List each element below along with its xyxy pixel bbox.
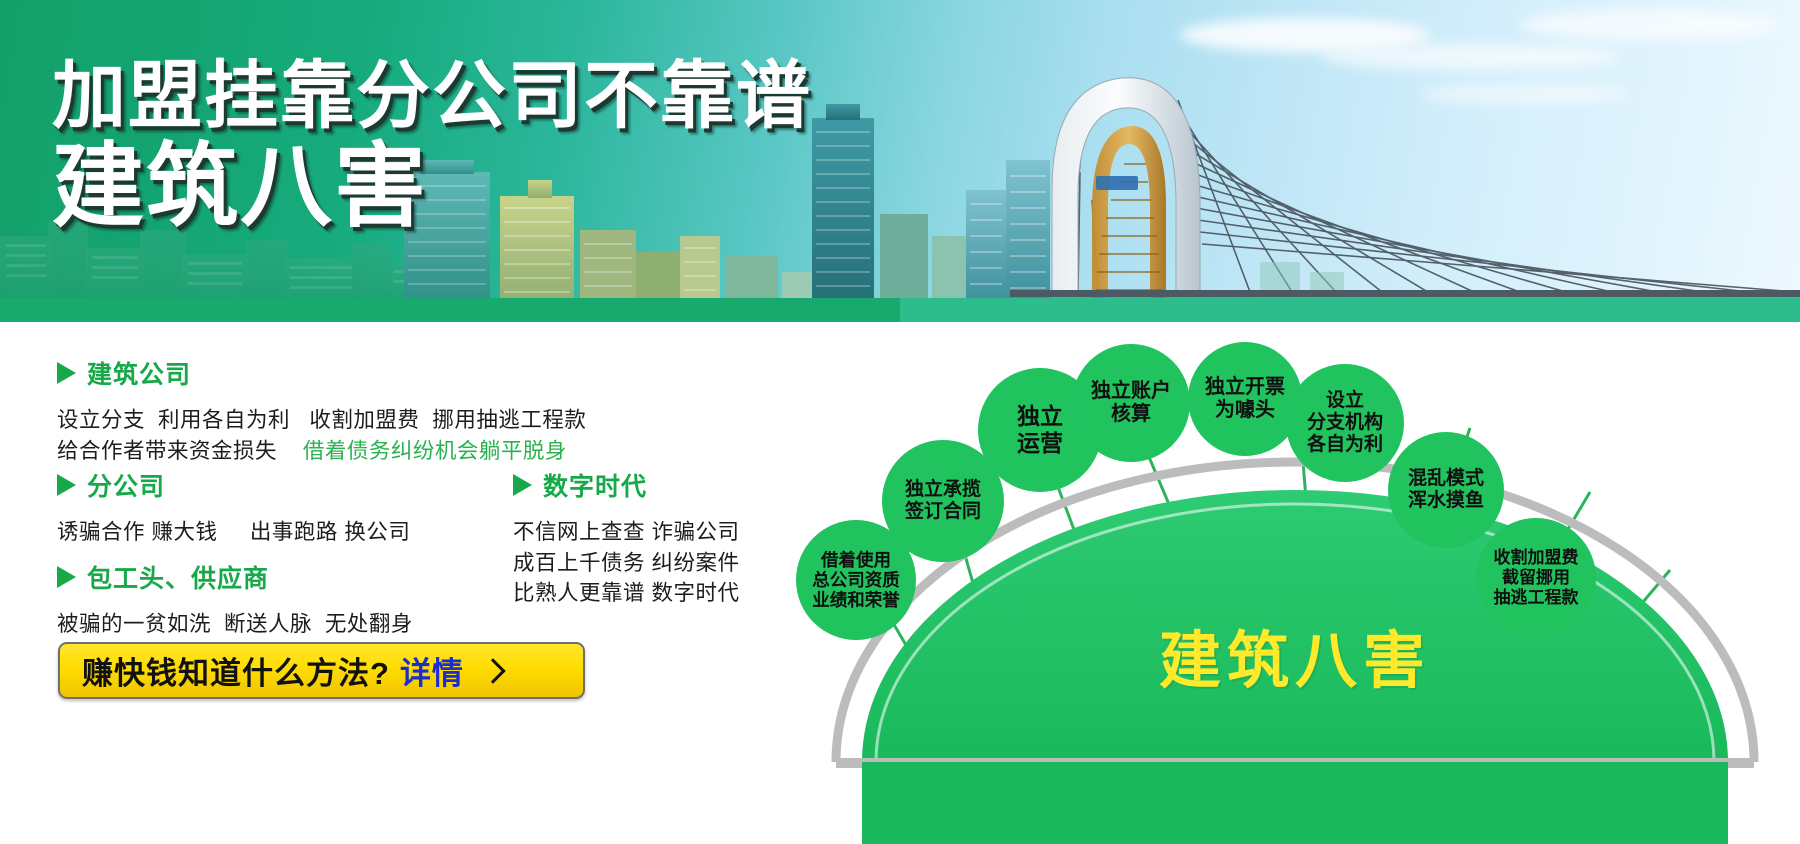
hero-title-block: 加盟挂靠分公司不靠谱 建筑八害 xyxy=(52,58,812,235)
body-line: 被骗的一贫如洗 断送人脉 无处翻身 xyxy=(57,609,413,640)
section-header: 数字时代 xyxy=(513,467,739,503)
section-header: 包工头、供应商 xyxy=(57,559,413,595)
accent-text: 借着债务纠纷机会躺平脱身 xyxy=(303,439,567,463)
hero-banner: 加盟挂靠分公司不靠谱 建筑八害 xyxy=(0,0,1800,322)
left-content-panel: 建筑公司 设立分支 利用各自为利 收割加盟费 挪用抽逃工程款 给合作者带来资金损… xyxy=(0,322,790,844)
section-title: 包工头、供应商 xyxy=(87,559,269,595)
body-line: 成百上千债务 纠纷案件 xyxy=(513,548,739,579)
dome-center-label: 建筑八害 xyxy=(790,610,1800,700)
section-contractor-supplier: 包工头、供应商 被骗的一贫如洗 断送人脉 无处翻身 xyxy=(57,559,413,640)
bubble-chaotic-mode[interactable]: 混乱模式 浑水摸鱼 xyxy=(1388,432,1504,548)
triangle-bullet-icon xyxy=(513,474,532,496)
section-header: 分公司 xyxy=(57,467,410,503)
section-header: 建筑公司 xyxy=(57,355,586,391)
triangle-bullet-icon xyxy=(57,566,76,588)
bubble-independent-account[interactable]: 独立账户 核算 xyxy=(1072,344,1190,462)
triangle-bullet-icon xyxy=(57,362,76,384)
body-line: 不信网上查查 诈骗公司 xyxy=(513,517,739,548)
bubble-independent-invoicing[interactable]: 独立开票 为噱头 xyxy=(1188,342,1302,456)
hero-title-line2: 建筑八害 xyxy=(52,141,812,235)
section-body: 诱骗合作 赚大钱 出事跑路 换公司 xyxy=(57,517,410,548)
poster-root: 加盟挂靠分公司不靠谱 建筑八害 建筑公司 设立分支 利用各自为利 收割加盟费 挪… xyxy=(0,0,1800,844)
section-title: 分公司 xyxy=(87,467,165,503)
body-line: 诱骗合作 赚大钱 出事跑路 换公司 xyxy=(57,517,410,548)
cta-detail-link[interactable]: 详情 xyxy=(400,648,464,693)
cta-button[interactable]: 赚快钱知道什么方法? 详情 xyxy=(58,642,585,699)
section-title: 建筑公司 xyxy=(87,355,191,391)
diagram-panel: 建筑八害 借着使用 总公司资质 业绩和荣誉 独立承揽 签订合同 独立 运营 独立… xyxy=(790,322,1800,844)
section-body: 不信网上查查 诈骗公司 成百上千债务 纠纷案件 比熟人更靠谱 数字时代 xyxy=(513,517,739,609)
body-line: 设立分支 利用各自为利 收割加盟费 挪用抽逃工程款 xyxy=(57,405,586,436)
section-branch-company: 分公司 诱骗合作 赚大钱 出事跑路 换公司 xyxy=(57,467,410,548)
section-body: 被骗的一贫如洗 断送人脉 无处翻身 xyxy=(57,609,413,640)
section-title: 数字时代 xyxy=(543,467,647,503)
section-body: 设立分支 利用各自为利 收割加盟费 挪用抽逃工程款 给合作者带来资金损失 借着债… xyxy=(57,405,586,466)
triangle-bullet-icon xyxy=(57,474,76,496)
bubble-establish-branch[interactable]: 设立 分支机构 各自为利 xyxy=(1286,364,1404,482)
section-construction-company: 建筑公司 设立分支 利用各自为利 收割加盟费 挪用抽逃工程款 给合作者带来资金损… xyxy=(57,355,586,466)
section-digital-era: 数字时代 不信网上查查 诈骗公司 成百上千债务 纠纷案件 比熟人更靠谱 数字时代 xyxy=(513,467,739,609)
cta-label: 赚快钱知道什么方法? xyxy=(82,648,390,693)
chevron-right-icon xyxy=(480,658,505,683)
body-line: 给合作者带来资金损失 借着债务纠纷机会躺平脱身 xyxy=(57,436,586,467)
hero-title-line1: 加盟挂靠分公司不靠谱 xyxy=(52,58,812,133)
body-line: 比熟人更靠谱 数字时代 xyxy=(513,578,739,609)
